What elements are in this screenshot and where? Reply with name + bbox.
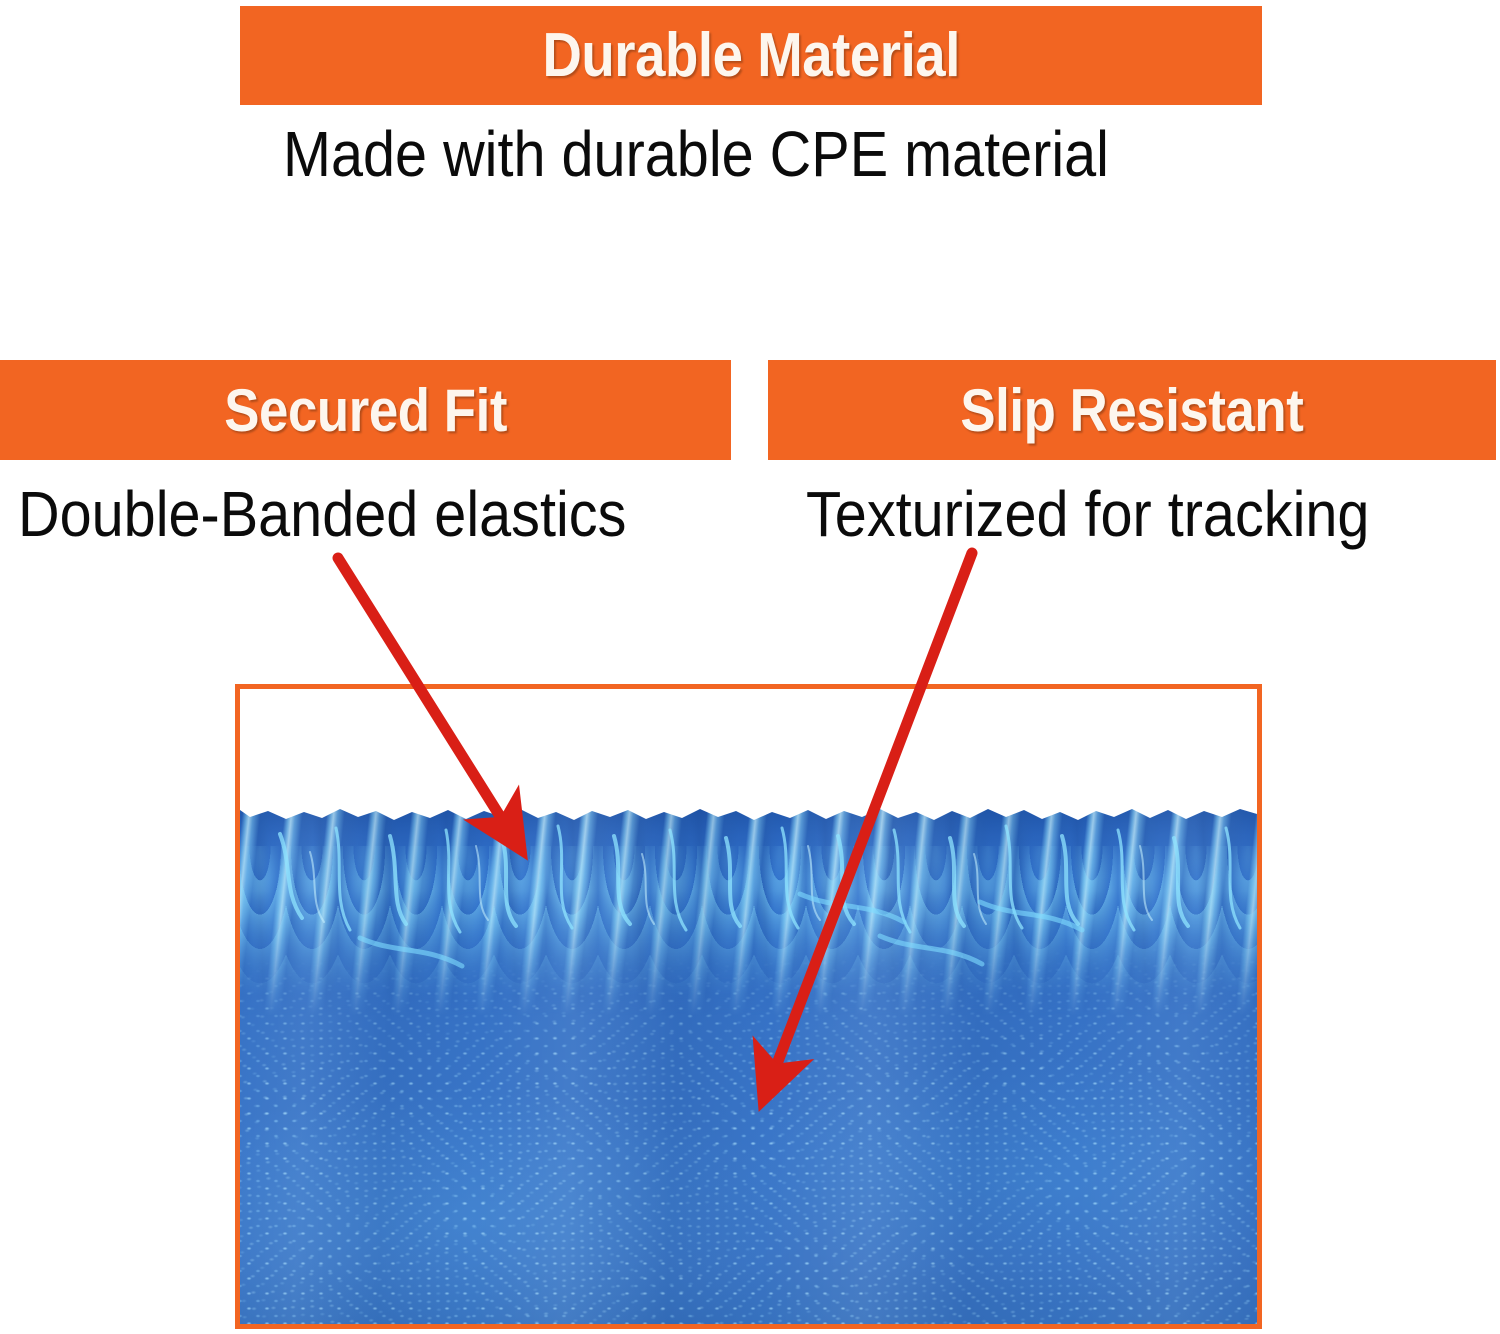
product-photo-frame bbox=[235, 684, 1262, 1329]
banner-slip-resistant: Slip Resistant bbox=[768, 360, 1496, 460]
caption-slip-resistant: Texturized for tracking bbox=[806, 477, 1369, 551]
banner-secured-fit-label: Secured Fit bbox=[224, 376, 507, 445]
banner-durable-material: Durable Material bbox=[240, 6, 1262, 105]
banner-durable-material-label: Durable Material bbox=[542, 20, 959, 91]
pool-cover-fabric-image bbox=[240, 806, 1257, 1324]
caption-durable-material: Made with durable CPE material bbox=[283, 117, 1109, 191]
fabric-pleat-highlights bbox=[240, 846, 1257, 996]
banner-slip-resistant-label: Slip Resistant bbox=[960, 376, 1303, 445]
caption-secured-fit: Double-Banded elastics bbox=[18, 477, 626, 551]
banner-secured-fit: Secured Fit bbox=[0, 360, 731, 460]
